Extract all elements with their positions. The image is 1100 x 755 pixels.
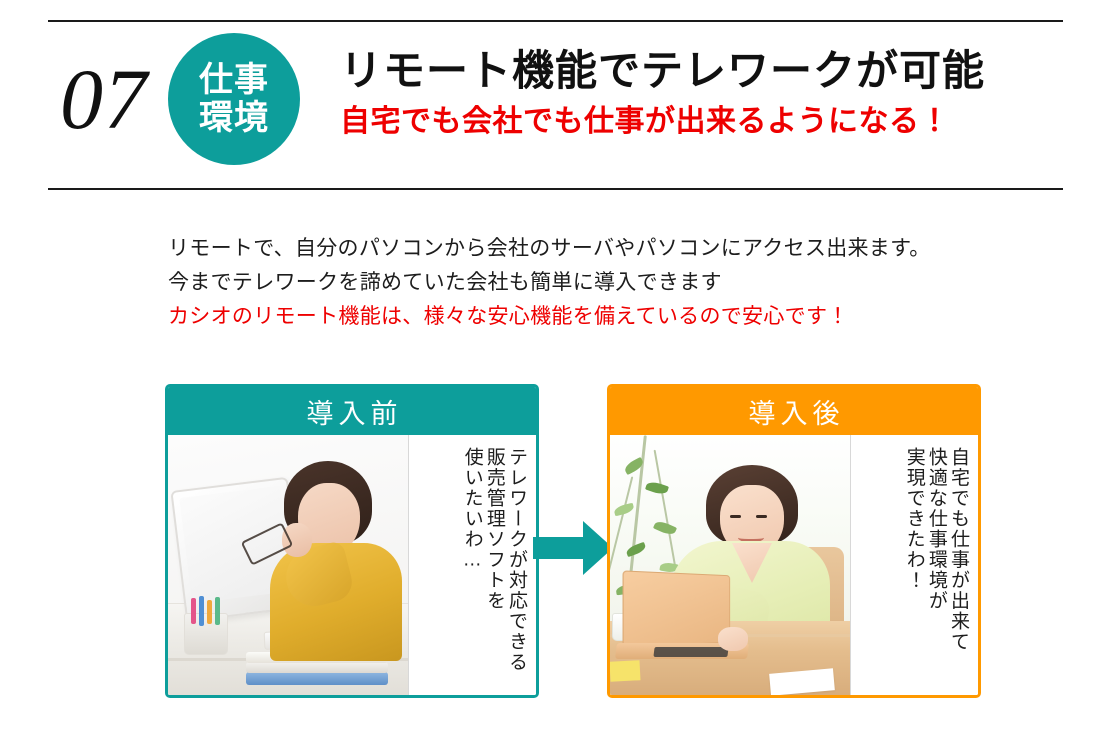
pen-holder <box>184 613 228 655</box>
quote-before-col-2: 販売管理ソフトを <box>484 447 504 611</box>
quote-before: テレワークが対応できる 販売管理ソフトを 使いたいわ… <box>408 435 536 695</box>
card-body-before: テレワークが対応できる 販売管理ソフトを 使いたいわ… <box>168 435 536 695</box>
badge-label-line2: 環境 <box>199 100 269 136</box>
lead-line-1: リモートで、自分のパソコンから会社のサーバやパソコンにアクセス出来ます。 <box>168 232 998 266</box>
quote-after-col-2: 快適な仕事環境が <box>926 447 946 611</box>
lead-line-3-accent: カシオのリモート機能は、様々な安心機能を備えているので安心です！ <box>168 300 998 334</box>
section-number: 07 <box>44 44 164 154</box>
photo-after <box>610 435 850 695</box>
header-bottom-rule <box>48 188 1063 190</box>
quote-after-col-1: 自宅でも仕事が出来て <box>948 447 968 652</box>
quote-after-col-3: 実現できたわ！ <box>904 447 924 591</box>
header-top-rule <box>48 20 1063 22</box>
lead-line-2: 今までテレワークを諦めていた会社も簡単に導入できます <box>168 266 998 300</box>
laptop <box>623 570 731 647</box>
comparison-card-after: 導入後 <box>607 384 981 698</box>
quote-after: 自宅でも仕事が出来て 快適な仕事環境が 実現できたわ！ <box>850 435 978 695</box>
card-header-before: 導入前 <box>168 387 536 435</box>
paper-document <box>769 668 835 695</box>
sticky-note <box>610 660 641 682</box>
page-subtitle: 自宅でも会社でも仕事が出来るようになる！ <box>340 104 1040 140</box>
category-badge: 仕事 環境 <box>168 33 300 165</box>
comparison-card-before: 導入前 <box>165 384 539 698</box>
quote-before-col-3: 使いたいわ… <box>462 447 482 572</box>
photo-before <box>168 435 408 695</box>
header-text-block: リモート機能でテレワークが可能 自宅でも会社でも仕事が出来るようになる！ <box>340 48 1040 140</box>
card-header-after: 導入後 <box>610 387 978 435</box>
badge-label-line1: 仕事 <box>199 62 269 98</box>
page-root: 07 仕事 環境 リモート機能でテレワークが可能 自宅でも会社でも仕事が出来るよ… <box>0 0 1100 755</box>
lead-paragraph: リモートで、自分のパソコンから会社のサーバやパソコンにアクセス出来ます。 今まで… <box>168 232 998 334</box>
page-title: リモート機能でテレワークが可能 <box>340 48 1040 98</box>
quote-before-col-1: テレワークが対応できる <box>506 447 526 673</box>
card-body-after: 自宅でも仕事が出来て 快適な仕事環境が 実現できたわ！ <box>610 435 978 695</box>
transition-arrow <box>533 521 613 575</box>
